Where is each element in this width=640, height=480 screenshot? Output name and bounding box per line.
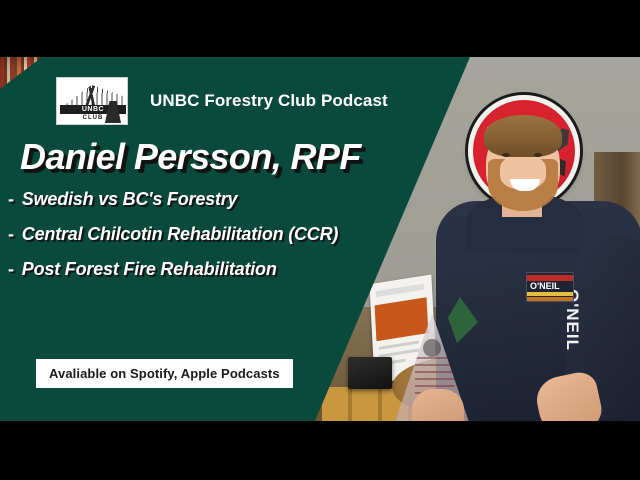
- bullet-dash: -: [8, 189, 14, 210]
- topic-list: - Swedish vs BC's Forestry - Central Chi…: [8, 189, 408, 295]
- topic-label: Post Forest Fire Rehabilitation: [22, 259, 277, 280]
- bullet-dash: -: [8, 224, 14, 245]
- letterbox-bar-bottom: [0, 421, 640, 480]
- bullet-dash: -: [8, 259, 14, 280]
- availability-badge: Avaliable on Spotify, Apple Podcasts: [36, 359, 293, 388]
- guest-name-title: Daniel Persson, RPF: [20, 136, 361, 178]
- video-thumbnail: TSI D O'NEIL: [0, 0, 640, 480]
- list-item: - Swedish vs BC's Forestry: [8, 189, 408, 210]
- list-item: - Central Chilcotin Rehabilitation (CCR): [8, 224, 408, 245]
- topic-label: Central Chilcotin Rehabilitation (CCR): [22, 224, 338, 245]
- text-overlay: UNBC FORESTRY CLUB UNBC Forestry Club Po…: [0, 57, 640, 421]
- show-title: UNBC Forestry Club Podcast: [150, 91, 388, 111]
- thumbnail-content: TSI D O'NEIL: [0, 57, 640, 421]
- topic-label: Swedish vs BC's Forestry: [22, 189, 238, 210]
- list-item: - Post Forest Fire Rehabilitation: [8, 259, 408, 280]
- unbc-forestry-club-logo: UNBC FORESTRY CLUB: [56, 77, 128, 125]
- letterbox-bar-top: [0, 0, 640, 57]
